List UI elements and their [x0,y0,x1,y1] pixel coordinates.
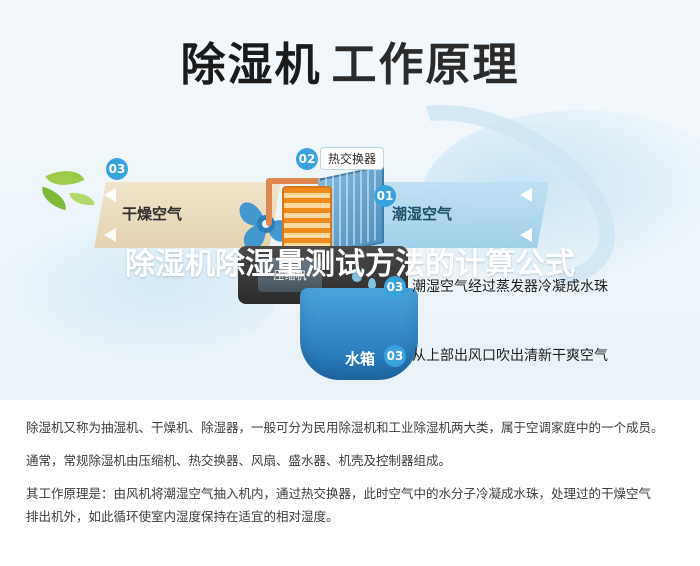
article-paragraph-1: 除湿机又称为抽湿机、干燥机、除湿器，一般可分为民用除湿机和工业除湿机两大类，属于… [26,416,674,439]
page-root: 除湿机工作原理 干燥空气 潮湿空气 [0,0,700,566]
infographic-banner: 除湿机工作原理 干燥空气 潮湿空气 [0,0,700,400]
step-badge-03: 03 [106,158,128,180]
water-droplet-icon [352,268,362,282]
infographic-title: 除湿机工作原理 [0,28,700,93]
leaf-icon [38,187,69,211]
article-paragraph-2: 通常，常规除湿机由压缩机、热交换器、风扇、盛水器、机壳及控制器组成。 [26,449,674,472]
step-badge-02: 02 [296,148,318,170]
water-tank-label: 水箱 [330,348,390,369]
refrigerant-pipe [266,178,272,226]
step-badge-01: 01 [374,185,396,207]
heat-exchanger-label: 热交换器 [320,147,384,170]
arrow-left-icon [104,228,116,242]
callout-badge-1: 03 [384,276,406,298]
arrow-right-icon [520,228,532,242]
dry-air-label: 干燥空气 [122,203,182,224]
callout-text-1: 潮湿空气经过蒸发器冷凝成水珠 [412,276,608,296]
article-paragraph-4: 排出机外，如此循环使室内湿度保持在适宜的相对湿度。 [26,505,674,528]
article-paragraph-3: 其工作原理是：由风机将潮湿空气抽入机内，通过热交换器，此时空气中的水分子冷凝成水… [26,482,674,505]
arrow-left-icon [104,188,116,202]
callout-badge-2: 03 [384,345,406,367]
compressor-label: 压缩机 [258,258,322,292]
article-body: 除湿机又称为抽湿机、干燥机、除湿器，一般可分为民用除湿机和工业除湿机两大类，属于… [26,416,674,539]
callout-text-2: 从上部出风口吹出清新干爽空气 [412,345,608,365]
title-sub-text: 工作原理 [332,38,520,91]
title-main-text: 除湿机 [180,38,321,91]
arrow-right-icon [520,188,532,202]
humid-air-label: 潮湿空气 [392,203,452,224]
